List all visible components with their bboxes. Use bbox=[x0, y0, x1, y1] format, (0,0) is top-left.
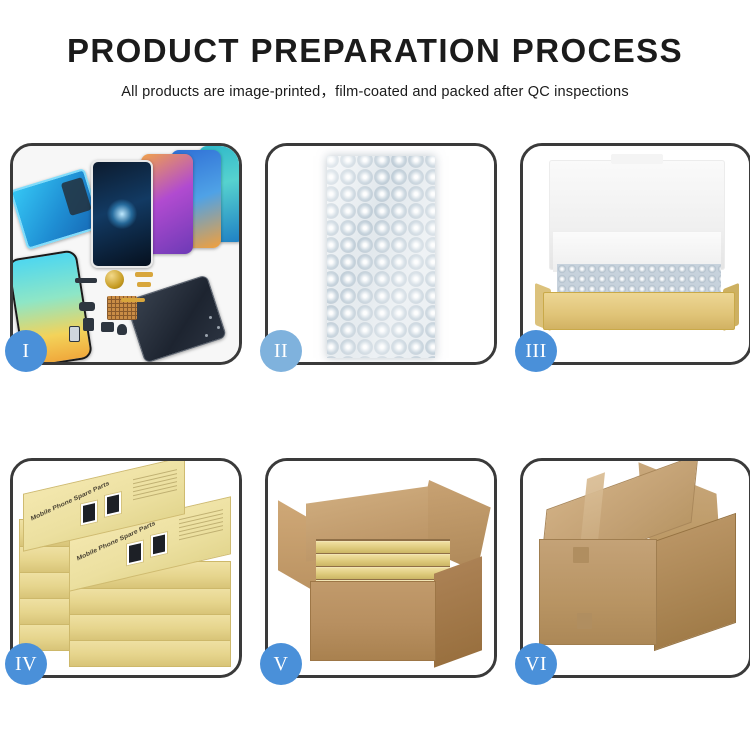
step-panel-3: III bbox=[520, 143, 750, 365]
step-badge-6: VI bbox=[515, 643, 557, 685]
flex-cable-2 bbox=[137, 282, 151, 287]
step-badge-5: V bbox=[260, 643, 302, 685]
step-badge-4: IV bbox=[5, 643, 47, 685]
step-panel-1: I bbox=[10, 143, 242, 365]
step-image-4: Mobile Phone Spare Parts Mobile Phone Sp… bbox=[13, 461, 239, 675]
step-numeral-5: V bbox=[274, 653, 289, 676]
bubble-wrap-package bbox=[327, 156, 435, 358]
sealed-carton-front bbox=[539, 539, 657, 645]
small-part-6 bbox=[69, 326, 80, 342]
packed-retail-box bbox=[316, 541, 450, 553]
step-badge-2: II bbox=[260, 330, 302, 372]
screw-3 bbox=[205, 334, 208, 337]
carton-tape-tab-lower bbox=[577, 613, 592, 629]
small-part-5 bbox=[117, 324, 127, 335]
retail-box-layer bbox=[69, 639, 231, 667]
step-panel-4: Mobile Phone Spare Parts Mobile Phone Sp… bbox=[10, 458, 242, 678]
step-image-3 bbox=[523, 146, 749, 362]
step-image-1 bbox=[13, 146, 239, 362]
step-image-2 bbox=[268, 146, 494, 362]
retail-box-thumb bbox=[80, 499, 98, 526]
packed-retail-box bbox=[316, 567, 450, 579]
flex-cable-1 bbox=[135, 272, 153, 277]
retail-box-thumb bbox=[104, 491, 122, 518]
step-numeral-1: I bbox=[22, 340, 29, 363]
step-numeral-4: IV bbox=[15, 653, 37, 676]
retail-box-spec-lines bbox=[133, 469, 177, 503]
phone-lcd-cyan bbox=[13, 168, 102, 250]
carton-tape-tab-upper bbox=[573, 547, 589, 563]
step-image-5 bbox=[268, 461, 494, 675]
step-badge-3: III bbox=[515, 330, 557, 372]
step-numeral-2: II bbox=[274, 340, 288, 363]
retail-box-stack: Mobile Phone Spare Parts Mobile Phone Sp… bbox=[17, 473, 237, 669]
retail-box-layer bbox=[69, 587, 231, 615]
small-part-4 bbox=[101, 322, 114, 332]
page-subtitle: All products are image-printed，film-coat… bbox=[0, 80, 750, 101]
speaker-coil-part bbox=[105, 270, 124, 289]
small-part-2 bbox=[79, 302, 95, 311]
step-panel-6: VI bbox=[520, 458, 750, 678]
page-title: PRODUCT PREPARATION PROCESS bbox=[0, 34, 750, 67]
retail-box-thumb bbox=[150, 531, 168, 558]
step-panel-2: II bbox=[265, 143, 497, 365]
process-steps-grid: I II III bbox=[10, 143, 740, 678]
bubble-wrap-sheen bbox=[327, 156, 435, 358]
packed-retail-box bbox=[316, 554, 450, 566]
flex-cable-3 bbox=[121, 298, 145, 302]
step-numeral-3: III bbox=[525, 340, 546, 363]
step-badge-1: I bbox=[5, 330, 47, 372]
small-part-1 bbox=[75, 278, 97, 283]
carton-side-panel bbox=[434, 556, 482, 667]
screw-2 bbox=[217, 326, 220, 329]
screw-1 bbox=[209, 316, 212, 319]
retail-box-spec-lines bbox=[179, 509, 223, 543]
mailer-front-panel bbox=[543, 292, 735, 330]
step-panel-5: V bbox=[265, 458, 497, 678]
step-numeral-6: VI bbox=[525, 653, 547, 676]
header: PRODUCT PREPARATION PROCESS All products… bbox=[0, 0, 750, 101]
carton-front-panel bbox=[310, 581, 436, 661]
step-image-6 bbox=[523, 461, 749, 675]
phone-screen-black bbox=[91, 160, 153, 268]
retail-box-layer bbox=[69, 613, 231, 641]
retail-box-thumb bbox=[126, 539, 144, 566]
small-part-3 bbox=[83, 318, 94, 331]
product-preparation-infographic: PRODUCT PREPARATION PROCESS All products… bbox=[0, 0, 750, 750]
